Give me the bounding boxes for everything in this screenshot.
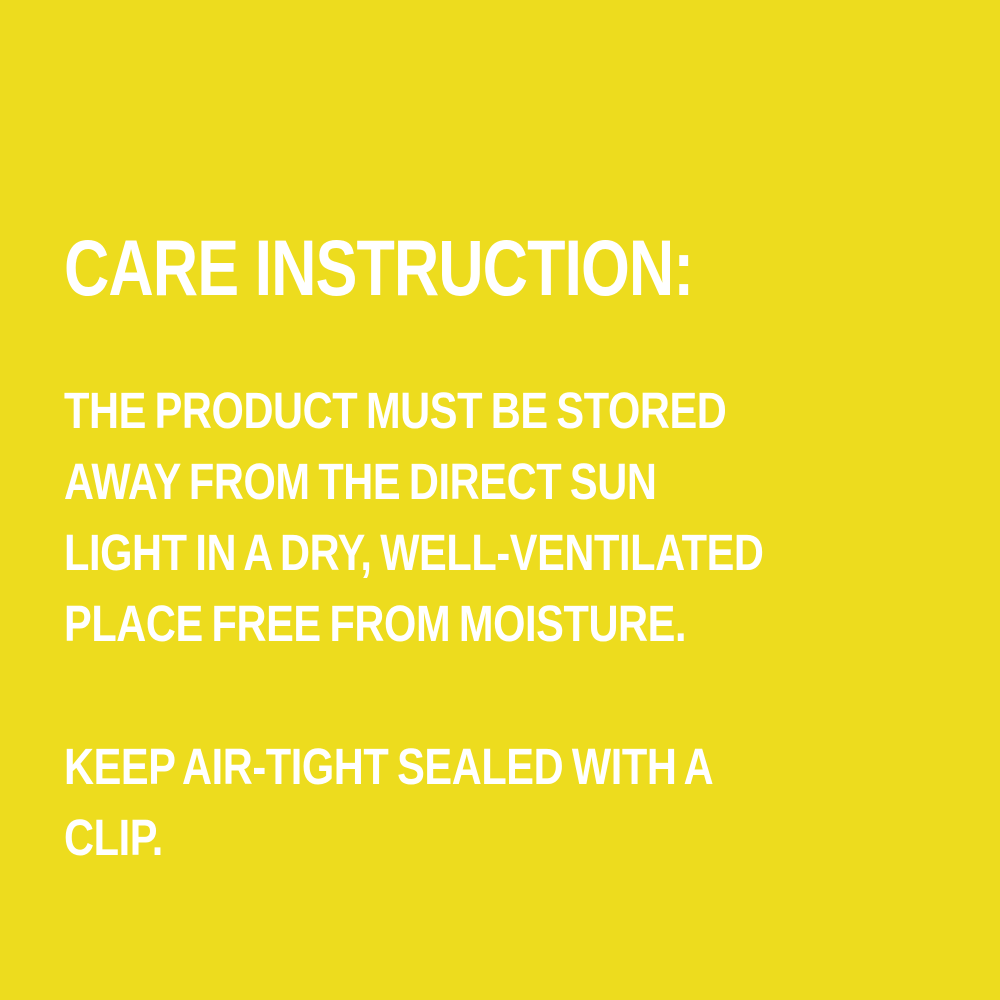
care-instruction-label: CARE INSTRUCTION: THE PRODUCT MUST BE ST… — [0, 0, 1000, 1000]
heading-block: CARE INSTRUCTION: — [64, 228, 964, 318]
paragraph-storage-instruction: THE PRODUCT MUST BE STORED AWAY FROM THE… — [64, 375, 1000, 659]
body-line: CLIP. — [64, 802, 830, 873]
body-line: KEEP AIR-TIGHT SEALED WITH A — [64, 731, 830, 802]
paragraph-sealing-instruction: KEEP AIR-TIGHT SEALED WITH A CLIP. — [64, 731, 1000, 873]
paragraph-spacer — [64, 659, 1000, 731]
body-line: THE PRODUCT MUST BE STORED — [64, 375, 830, 446]
care-instruction-heading: CARE INSTRUCTION: — [64, 228, 693, 307]
body-line: PLACE FREE FROM MOISTURE. — [64, 588, 830, 659]
body-line: AWAY FROM THE DIRECT SUN — [64, 446, 830, 517]
body-line: LIGHT IN A DRY, WELL-VENTILATED — [64, 517, 830, 588]
instruction-body: THE PRODUCT MUST BE STORED AWAY FROM THE… — [64, 375, 1000, 873]
